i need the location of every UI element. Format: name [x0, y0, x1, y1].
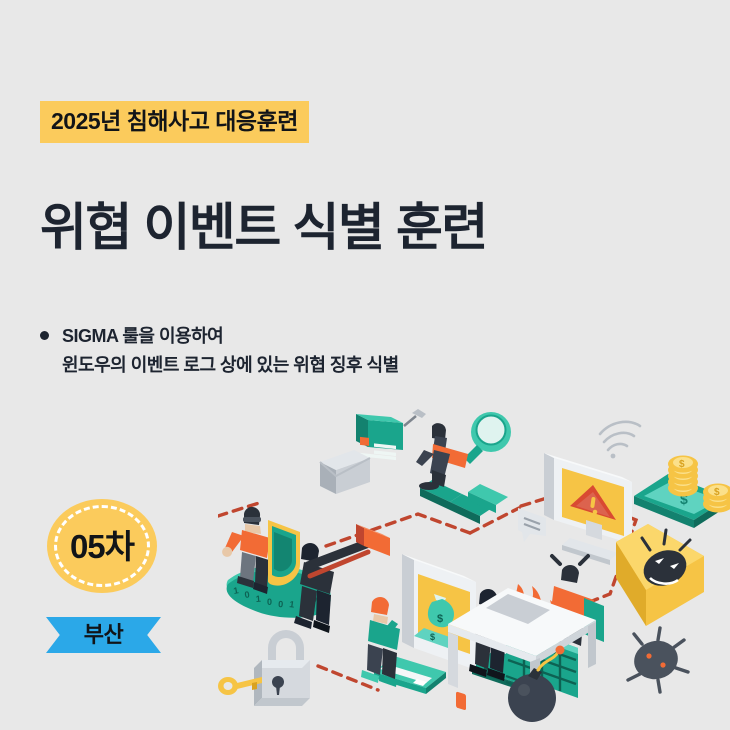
svg-text:1: 1 — [255, 594, 261, 604]
svg-text:$: $ — [679, 459, 685, 470]
svg-text:$: $ — [430, 632, 435, 642]
wifi-signal-icon — [600, 422, 640, 459]
svg-text:0: 0 — [267, 597, 272, 607]
list-item: SIGMA 룰을 이용하여 윈도우의 이벤트 로그 상에 있는 위협 징후 식별 — [40, 322, 510, 380]
svg-text:$: $ — [437, 613, 443, 625]
chat-bubble-icon — [518, 508, 546, 542]
poster-canvas: 2025년 침해사고 대응훈련 위협 이벤트 식별 훈련 SIGMA 룰을 이용… — [0, 0, 730, 730]
location-ribbon-label: 부산 — [84, 624, 123, 646]
kicker-badge: 2025년 침해사고 대응훈련 — [40, 101, 309, 143]
bullet-list: SIGMA 룰을 이용하여 윈도우의 이벤트 로그 상에 있는 위협 징후 식별 — [40, 322, 510, 380]
envelope-mail-icon — [320, 450, 370, 494]
svg-text:0: 0 — [278, 599, 284, 609]
kicker-container: 2025년 침해사고 대응훈련 — [40, 101, 309, 143]
padlock-with-key — [218, 630, 310, 706]
round-badge: 05차 — [47, 499, 157, 593]
svg-text:$: $ — [714, 487, 720, 498]
virus-on-binary-grid: 01001 10110 01101 11010 1011 0101 1100 0… — [606, 628, 688, 730]
magnifier-icon — [464, 412, 511, 464]
bullet-line-2: 윈도우의 이벤트 로그 상에 있는 위협 징후 식별 — [62, 351, 399, 380]
coins-and-banknotes: $ $ $ — [634, 456, 730, 529]
id-card-scanner — [356, 409, 426, 460]
bullet-line-1: SIGMA 룰을 이용하여 — [62, 322, 399, 351]
bullet-text: SIGMA 룰을 이용하여 윈도우의 이벤트 로그 상에 있는 위협 징후 식별 — [62, 322, 399, 380]
cybersecurity-illustration: $ $ $ — [218, 398, 730, 730]
round-badge-label: 05차 — [70, 530, 134, 563]
phishing-envelope-bug — [616, 524, 704, 626]
page-title: 위협 이벤트 식별 훈련 — [40, 198, 487, 258]
bullet-dot-icon — [40, 331, 49, 340]
location-ribbon: 부산 — [46, 617, 161, 653]
